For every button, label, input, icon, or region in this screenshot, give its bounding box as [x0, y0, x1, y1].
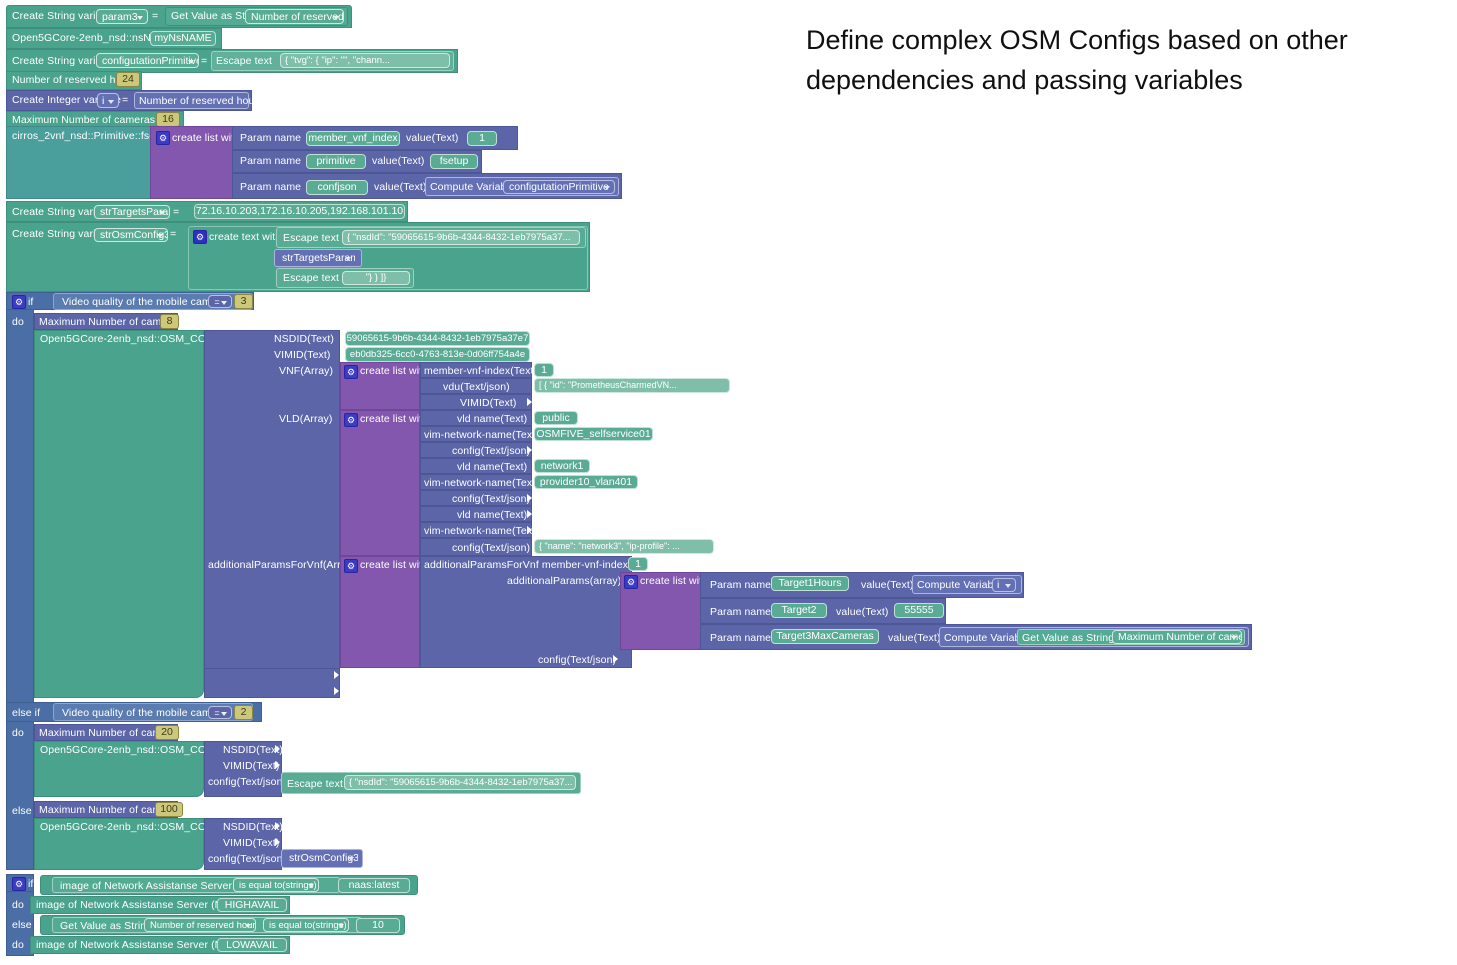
vld-row-0-value[interactable]: public [534, 411, 578, 425]
mutator-gear-icon-vld[interactable]: ⚙ [344, 413, 358, 427]
nass-cond1-operator[interactable]: is equal to(strings) [233, 878, 319, 892]
vld-row-3-value[interactable]: network1 [534, 459, 590, 473]
create-text-with-label: create text with [209, 232, 281, 243]
branch1-osm-config-label: Open5GCore-2enb_nsd::OSM_CONFIG [40, 334, 232, 345]
vld-row-6-plug-icon [527, 510, 532, 518]
nass-cond1-value[interactable]: naas:latest [338, 878, 410, 893]
branch1-vld-label: VLD(Array) [279, 414, 333, 425]
vld-row-4-label: vim-network-name(Text) [424, 478, 539, 489]
branch2-osm-config-label: Open5GCore-2enb_nsd::OSM_CONFIG [40, 745, 232, 756]
branch3-vimid-label: VIMID(Text) [223, 838, 280, 849]
branch1-vimid-label: VIMID(Text) [274, 350, 331, 361]
equals-sign: = [152, 11, 158, 22]
else-if-condition-variable: Video quality of the mobile cameras [62, 708, 232, 719]
variable-dropdown-configutationprimitive[interactable]: configutationPrimitive [96, 53, 199, 68]
apfv-member-index-value[interactable]: 1 [628, 557, 648, 571]
slide-canvas: Define complex OSM Configs based on othe… [0, 0, 1457, 965]
branch1-nsdid-value[interactable]: 59065615-9b6b-4344-8432-1eb7975a37e7 [345, 331, 530, 346]
apfns-plug-icon [334, 671, 339, 679]
number-of-reserved-hours-value[interactable]: 24 [116, 72, 140, 87]
mutator-gear-icon-nass[interactable]: ⚙ [12, 877, 26, 891]
vnf-row-1-label: vdu(Text/json) [443, 382, 510, 393]
variable-dropdown-param3[interactable]: param3 [96, 9, 148, 24]
variable-dropdown-i[interactable]: i [97, 93, 119, 108]
else-if-compare-value[interactable]: 2 [234, 705, 253, 720]
if-block-spine[interactable] [6, 292, 34, 870]
branch1-vimid-value[interactable]: eb0db325-6cc0-4763-813e-0d06ff754a4e [345, 347, 530, 362]
apfv-additional-params-label: additionalParams(array) [507, 576, 621, 587]
param-name-label-3: Param name [240, 182, 301, 193]
branch2-escape-text-value[interactable]: { "nsdId": "59065615-9b6b-4344-8432-1eb7… [344, 775, 576, 790]
vld-row-7-plug-icon [527, 526, 532, 534]
compute-variable-dropdown-1[interactable]: configutationPrimitive [503, 180, 615, 194]
branch3-nsdid-plug-icon [275, 822, 280, 830]
if-condition-variable-1: Video quality of the mobile cameras [62, 297, 232, 308]
apfv-config-label: config(Text/json) [538, 655, 616, 666]
apfv-param-name-2[interactable]: Target2 [771, 603, 827, 618]
param-value-field-1[interactable]: 1 [467, 131, 497, 146]
apfv-param-value-label-3: value(Text) [888, 633, 940, 644]
vld-row-7-label: vim-network-name(Text) [424, 526, 539, 537]
vld-row-2-label: config(Text/json) [452, 446, 530, 457]
vld-row-1-value[interactable]: OSMFIVE_selfservice01 [534, 427, 653, 441]
apfv-compute-variable-3[interactable]: Maximum Number of cameras [1112, 630, 1242, 644]
vld-row-8-label: config(Text/json) [452, 543, 530, 554]
escape-text-value-1[interactable]: { "tvg": { "ip": "", "chann... [280, 53, 450, 68]
escape-text-label-2: Escape text [283, 233, 339, 244]
if-label: if [28, 297, 33, 308]
vld-row-4-value[interactable]: provider10_vlan401 [534, 475, 638, 489]
if-operator-1[interactable]: = [208, 295, 232, 308]
apfv-create-list-with-label: create list with [360, 560, 428, 571]
apfv-param-label-2: Param name [710, 607, 771, 618]
nass-do-1-value[interactable]: HIGHAVAIL [217, 898, 287, 912]
strtargetsparam-value-field[interactable]: 172.16.10.203,172.16.10.205,192.168.101.… [194, 204, 405, 219]
vnf-row-1-value[interactable]: [ { "id": "PrometheusCharmedVN... [534, 378, 730, 393]
branch3-osm-config-label: Open5GCore-2enb_nsd::OSM_CONFIG [40, 822, 232, 833]
apfv-config-plug-icon [613, 655, 618, 663]
variable-dropdown-strtargetsparam[interactable]: strTargetsParam [94, 205, 170, 219]
escape-text-value-3[interactable]: "} } ]} [342, 271, 410, 285]
apfv-param-label-1: Param name [710, 580, 771, 591]
vld-row-0-label: vld name(Text) [457, 414, 527, 425]
vnf-row-2-label: VIMID(Text) [460, 398, 517, 409]
vld-create-list-with[interactable] [340, 410, 420, 556]
vld-row-5-plug-icon [527, 494, 532, 502]
nass-else-if-label: else if [12, 920, 40, 931]
nsname-value-field[interactable]: myNsNAME [150, 31, 216, 46]
maximum-number-of-cameras-label: Maximum Number of cameras [12, 115, 155, 126]
param-name-field-1[interactable]: member_vnf_index [306, 131, 400, 146]
apfv-compute-variable-1[interactable]: i [992, 578, 1016, 592]
mutator-gear-icon-vnf[interactable]: ⚙ [344, 365, 358, 379]
escape-text-label-1: Escape text [216, 56, 272, 67]
vld-row-6-label: vld name(Text) [457, 510, 527, 521]
vld-row-8-value[interactable]: { "name": "network3", "ip-profile": ... [534, 539, 714, 554]
branch2-max-cameras-value[interactable]: 20 [155, 725, 179, 740]
branch1-apfv-label: additionalParamsForVnf(Array) [208, 560, 356, 571]
nass-do-2-label: image of Network Assistanse Server (NASS… [36, 940, 247, 951]
apfv-inner-create-list-with-label: create list with [640, 576, 708, 587]
branch3-config-variable-dropdown[interactable]: strOsmConfig3 [284, 851, 358, 865]
vld-row-3-label: vld name(Text) [457, 462, 527, 473]
nass-cond2-get-value: Get Value as String [60, 921, 152, 932]
param-value-label-3: value(Text) [374, 182, 426, 193]
param-value-label-2: value(Text) [372, 156, 424, 167]
do-label-1: do [12, 317, 24, 328]
mutator-gear-icon-apfv-inner[interactable]: ⚙ [624, 575, 638, 589]
branch2-vimid-plug-icon [275, 761, 280, 769]
nass-do-1-label: image of Network Assistanse Server (NASS… [36, 900, 247, 911]
branch1-osm-config-block[interactable] [34, 330, 204, 698]
variable-dropdown-strosmconfig3[interactable]: strOsmConfig3 [94, 228, 168, 242]
branch2-vimid-label: VIMID(Text) [223, 761, 280, 772]
apfv-param-name-3[interactable]: Target3MaxCameras [771, 629, 879, 644]
branch1-nsdid-label: NSDID(Text) [274, 334, 334, 345]
equals-sign-2: = [201, 56, 207, 67]
slide-title: Define complex OSM Configs based on othe… [806, 20, 1446, 100]
vnf-row-2-plug-icon [527, 398, 532, 406]
nass-do-2-value[interactable]: LOWAVAIL [217, 938, 287, 952]
vld-row-1-label: vim-network-name(Text) [424, 430, 539, 441]
apfv-param-label-3: Param name [710, 633, 771, 644]
mutator-gear-icon-2[interactable]: ⚙ [193, 230, 207, 244]
strtargetsparam-reference-dropdown[interactable]: strTargetsParam [277, 251, 355, 265]
branch3-max-cameras-value[interactable]: 100 [155, 802, 183, 817]
apfv-compute-label-1: Compute Variable [917, 580, 1002, 591]
mutator-gear-icon-apfv[interactable]: ⚙ [344, 559, 358, 573]
branch2-config-label: config(Text/json) [208, 777, 286, 788]
param-name-label-2: Param name [240, 156, 301, 167]
escape-text-value-2[interactable]: { "nsdId": "59065615-9b6b-4344-8432-1eb7… [342, 230, 580, 245]
else-if-operator[interactable]: = [208, 706, 232, 719]
vld-create-list-with-label: create list with [360, 414, 428, 425]
nass-do-label-1: do [12, 900, 24, 911]
equals-sign-4: = [173, 207, 179, 218]
nass-do-label-2: do [12, 940, 24, 951]
equals-sign-3: = [122, 95, 128, 106]
branch2-escape-text-label: Escape text [287, 779, 343, 790]
equals-sign-5: = [170, 229, 176, 240]
nass-cond2-value[interactable]: 10 [356, 918, 400, 933]
if-compare-value-1[interactable]: 3 [234, 294, 253, 309]
param-name-field-3[interactable]: confjson [306, 180, 368, 195]
else-if-label: else if [12, 708, 40, 719]
nass-if-label: if [28, 879, 33, 890]
vnf-row-0-value[interactable]: 1 [534, 363, 554, 377]
nass-cond2-variable[interactable]: Number of reserved hours [144, 918, 256, 932]
apfv-param-value-label-2: value(Text) [836, 607, 888, 618]
branch1-tail-fields[interactable] [204, 668, 340, 698]
param-name-label-1: Param name [240, 133, 301, 144]
mutator-gear-icon-1[interactable]: ⚙ [156, 131, 170, 145]
do-label-2: do [12, 728, 24, 739]
branch2-nsdid-plug-icon [275, 745, 280, 753]
param-value-field-2[interactable]: fsetup [430, 154, 478, 169]
apfv-param-value-2[interactable]: 55555 [894, 603, 944, 618]
vnf-create-list-with-label: create list with [360, 366, 428, 377]
nsname-label: Open5GCore-2enb_nsd::nsName [12, 33, 172, 44]
primitive-fsetup-label: cirros_2vnf_nsd::Primitive::fsetup [12, 131, 170, 142]
mutator-gear-icon-if-1[interactable]: ⚙ [12, 295, 26, 309]
branch1-osm-config-fields[interactable] [204, 330, 340, 698]
maximum-number-of-cameras-value[interactable]: 16 [156, 112, 180, 127]
sshkeys-plug-icon [334, 687, 339, 695]
branch1-vnf-label: VNF(Array) [279, 366, 333, 377]
apfv-fields-column[interactable] [420, 556, 632, 668]
branch1-max-cameras-value[interactable]: 8 [160, 314, 179, 329]
apfv-get-value-label-3: Get Value as String [1022, 633, 1114, 644]
param-value-label-1: value(Text) [406, 133, 458, 144]
apfv-member-index-label: additionalParamsForVnf member-vnf-index(… [424, 560, 655, 571]
vld-row-5-label: config(Text/json) [452, 494, 530, 505]
integer-value-label: Number of reserved hours [139, 96, 263, 107]
apfv-param-value-label-1: value(Text) [861, 580, 913, 591]
value-variable-dropdown[interactable]: Number of reserved hours [245, 9, 344, 24]
branch3-config-label: config(Text/json) [208, 854, 286, 865]
escape-text-label-3: Escape text [283, 273, 339, 284]
vld-row-2-plug-icon [527, 446, 532, 454]
branch3-vimid-plug-icon [275, 838, 280, 846]
create-list-with-label-1: create list with [172, 133, 240, 144]
apfv-param-name-1[interactable]: Target1Hours [771, 576, 849, 591]
param-name-field-2[interactable]: primitive [306, 154, 366, 169]
else-label: else [12, 806, 32, 817]
nass-cond2-operator[interactable]: is equal to(strings) [263, 918, 349, 932]
vnf-row-0-label: member-vnf-index(Text) [424, 366, 537, 377]
